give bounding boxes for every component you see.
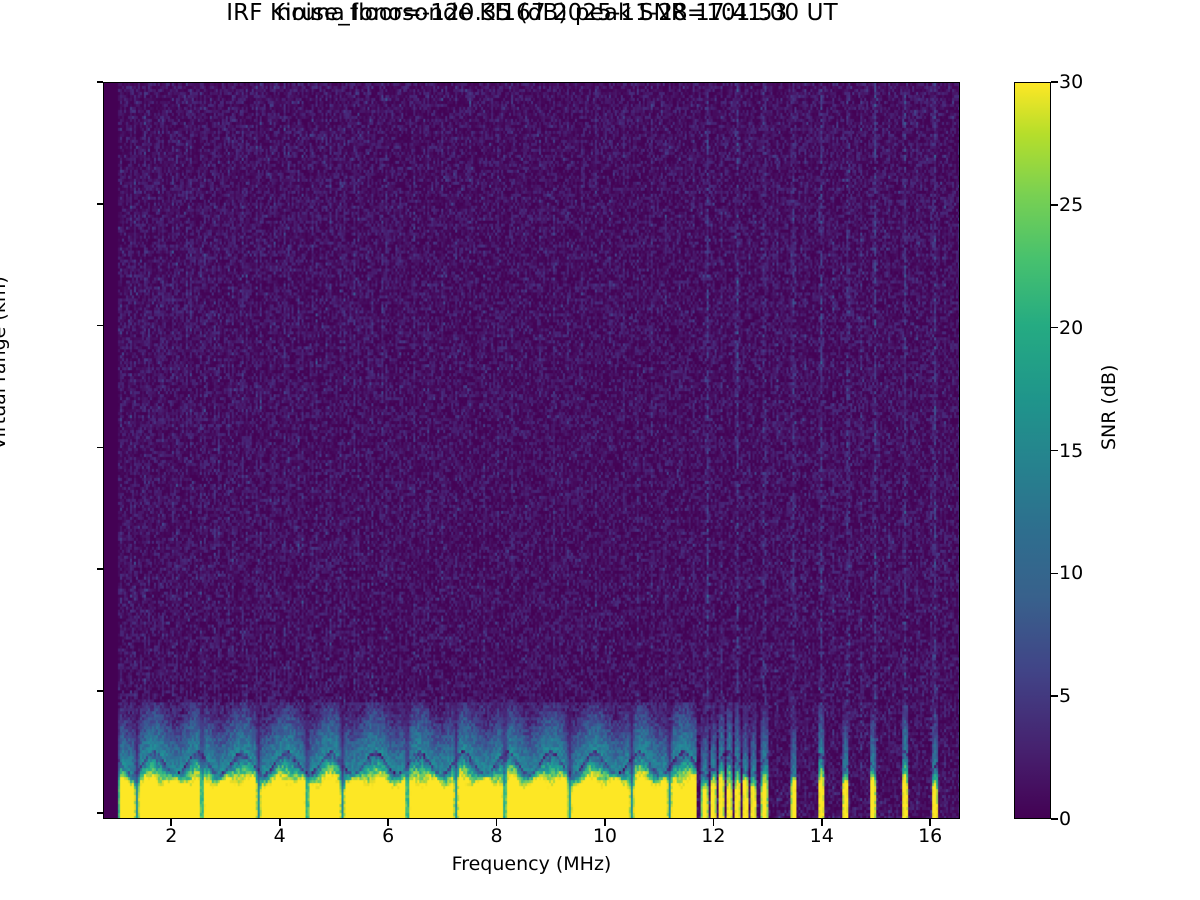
colorbar-tick-label: 15 bbox=[1059, 440, 1083, 462]
colorbar-tick-mark bbox=[1051, 573, 1058, 575]
colorbar-tick-mark bbox=[1051, 327, 1058, 329]
ionogram-plot-area bbox=[103, 82, 960, 819]
x-tick-label: 4 bbox=[220, 825, 340, 847]
y-tick-mark bbox=[97, 325, 104, 327]
colorbar-tick-label: 20 bbox=[1059, 317, 1083, 339]
x-tick-label: 12 bbox=[653, 825, 773, 847]
colorbar-tick-label: 30 bbox=[1059, 71, 1083, 93]
x-tick-mark bbox=[929, 819, 931, 826]
x-tick-label: 10 bbox=[545, 825, 665, 847]
y-axis-label: Virtual range (km) bbox=[0, 276, 10, 450]
x-tick-mark bbox=[713, 819, 715, 826]
x-axis-label: Frequency (MHz) bbox=[103, 853, 960, 875]
colorbar-tick-mark bbox=[1051, 450, 1058, 452]
colorbar-tick-mark bbox=[1051, 81, 1058, 83]
x-tick-label: 16 bbox=[870, 825, 990, 847]
y-tick-mark bbox=[97, 690, 104, 692]
colorbar-tick-mark bbox=[1051, 695, 1058, 697]
title-line-2: noise_floor=-120.35 (dB) peak SNR=101.53 bbox=[0, 0, 1064, 26]
colorbar-label: SNR (dB) bbox=[1098, 365, 1120, 450]
colorbar-tick-label: 10 bbox=[1059, 562, 1083, 584]
colorbar bbox=[1014, 82, 1051, 819]
colorbar-tick-label: 0 bbox=[1059, 808, 1071, 830]
colorbar-tick-mark bbox=[1051, 204, 1058, 206]
x-tick-label: 2 bbox=[111, 825, 231, 847]
x-tick-label: 8 bbox=[437, 825, 557, 847]
x-tick-mark bbox=[170, 819, 172, 826]
x-tick-mark bbox=[604, 819, 606, 826]
y-tick-mark bbox=[97, 568, 104, 570]
x-tick-label: 6 bbox=[328, 825, 448, 847]
x-tick-mark bbox=[496, 819, 498, 826]
y-tick-mark bbox=[97, 812, 104, 814]
colorbar-tick-label: 5 bbox=[1059, 685, 1071, 707]
x-tick-label: 14 bbox=[762, 825, 882, 847]
y-tick-mark bbox=[97, 203, 104, 205]
x-tick-mark bbox=[387, 819, 389, 826]
ionogram-heatmap bbox=[104, 83, 959, 818]
colorbar-tick-label: 25 bbox=[1059, 194, 1083, 216]
y-tick-mark bbox=[97, 447, 104, 449]
colorbar-tick-mark bbox=[1051, 818, 1058, 820]
ionogram-figure: IRF Kiruna Ionosonde KI167 2025-11-28 17… bbox=[0, 0, 1200, 900]
x-tick-mark bbox=[821, 819, 823, 826]
x-tick-mark bbox=[279, 819, 281, 826]
y-tick-mark bbox=[97, 81, 104, 83]
